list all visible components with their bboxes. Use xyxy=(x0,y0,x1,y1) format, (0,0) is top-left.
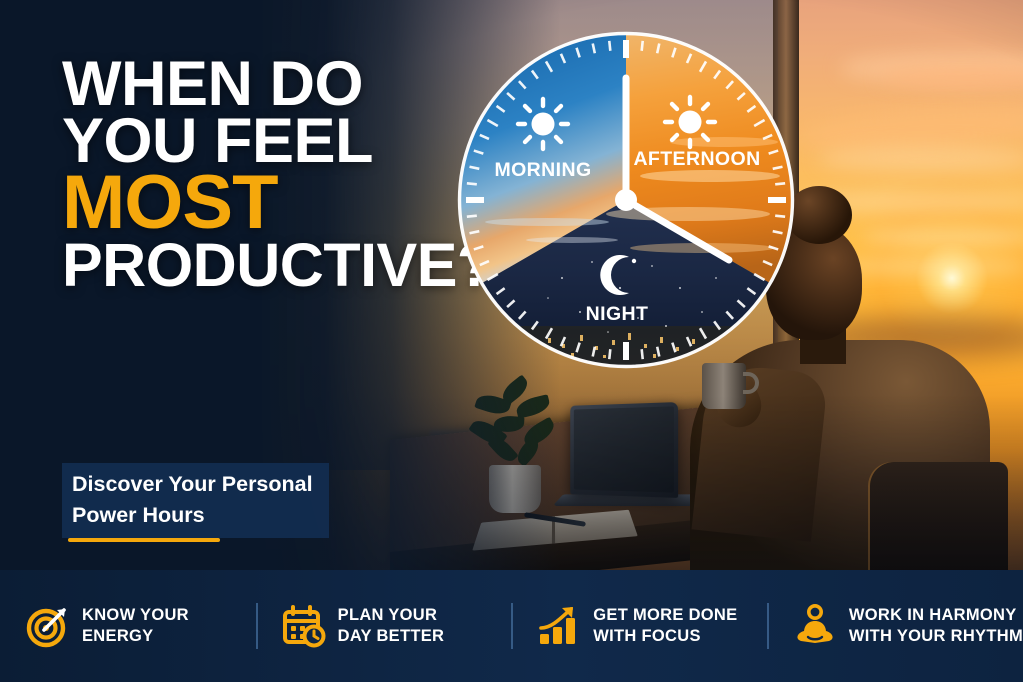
sun-icon xyxy=(665,97,715,147)
feature-item-know-your-energy[interactable]: KNOW YOUR ENERGY xyxy=(0,604,256,648)
subtitle-line-1: Discover Your Personal xyxy=(72,472,313,496)
sun-icon xyxy=(518,99,568,149)
feature-bar: KNOW YOUR ENERGY xyxy=(0,570,1023,682)
feature-label: KNOW YOUR ENERGY xyxy=(82,605,189,648)
clock-label-night: NIGHT xyxy=(586,303,649,325)
feature-line-1: PLAN YOUR xyxy=(338,605,445,626)
feature-line-2: WITH FOCUS xyxy=(593,626,737,647)
clock-center-hub xyxy=(615,189,637,211)
productivity-clock: MORNING AFTERNOON NIGHT xyxy=(452,26,800,374)
feature-label: PLAN YOUR DAY BETTER xyxy=(338,605,445,648)
calendar-clock-icon xyxy=(282,604,326,648)
feature-line-1: GET MORE DONE xyxy=(593,605,737,626)
clock-label-morning: MORNING xyxy=(494,159,591,181)
headline-accent: MOST xyxy=(62,169,492,237)
feature-item-work-in-harmony[interactable]: WORK IN HARMONY WITH YOUR RHYTHM xyxy=(767,604,1023,648)
subtitle: Discover Your Personal Power Hours xyxy=(62,463,329,538)
feature-item-plan-your-day-better[interactable]: PLAN YOUR DAY BETTER xyxy=(256,604,512,648)
feature-line-2: DAY BETTER xyxy=(338,626,445,647)
headline-line-4: PRODUCTIVE? xyxy=(62,238,492,293)
growth-chart-icon xyxy=(537,604,581,648)
feature-line-2: ENERGY xyxy=(82,626,189,647)
feature-line-2: WITH YOUR RHYTHM xyxy=(849,626,1023,647)
feature-item-get-more-done-with-focus[interactable]: GET MORE DONE WITH FOCUS xyxy=(511,604,767,648)
page-title: WHEN DO YOU FEEL MOST PRODUCTIVE? xyxy=(62,56,492,293)
meditation-icon xyxy=(793,604,837,648)
subtitle-line-2: Power Hours xyxy=(72,500,313,531)
feature-line-1: WORK IN HARMONY xyxy=(849,605,1023,626)
feature-line-1: KNOW YOUR xyxy=(82,605,189,626)
subtitle-underline xyxy=(68,538,220,542)
poster-canvas: WHEN DO YOU FEEL MOST PRODUCTIVE? Discov… xyxy=(0,0,1023,682)
headline-line-1: WHEN DO xyxy=(62,56,492,113)
feature-label: WORK IN HARMONY WITH YOUR RHYTHM xyxy=(849,605,1023,648)
target-dart-icon xyxy=(26,604,70,648)
feature-label: GET MORE DONE WITH FOCUS xyxy=(593,605,737,648)
clock-label-afternoon: AFTERNOON xyxy=(633,148,760,170)
